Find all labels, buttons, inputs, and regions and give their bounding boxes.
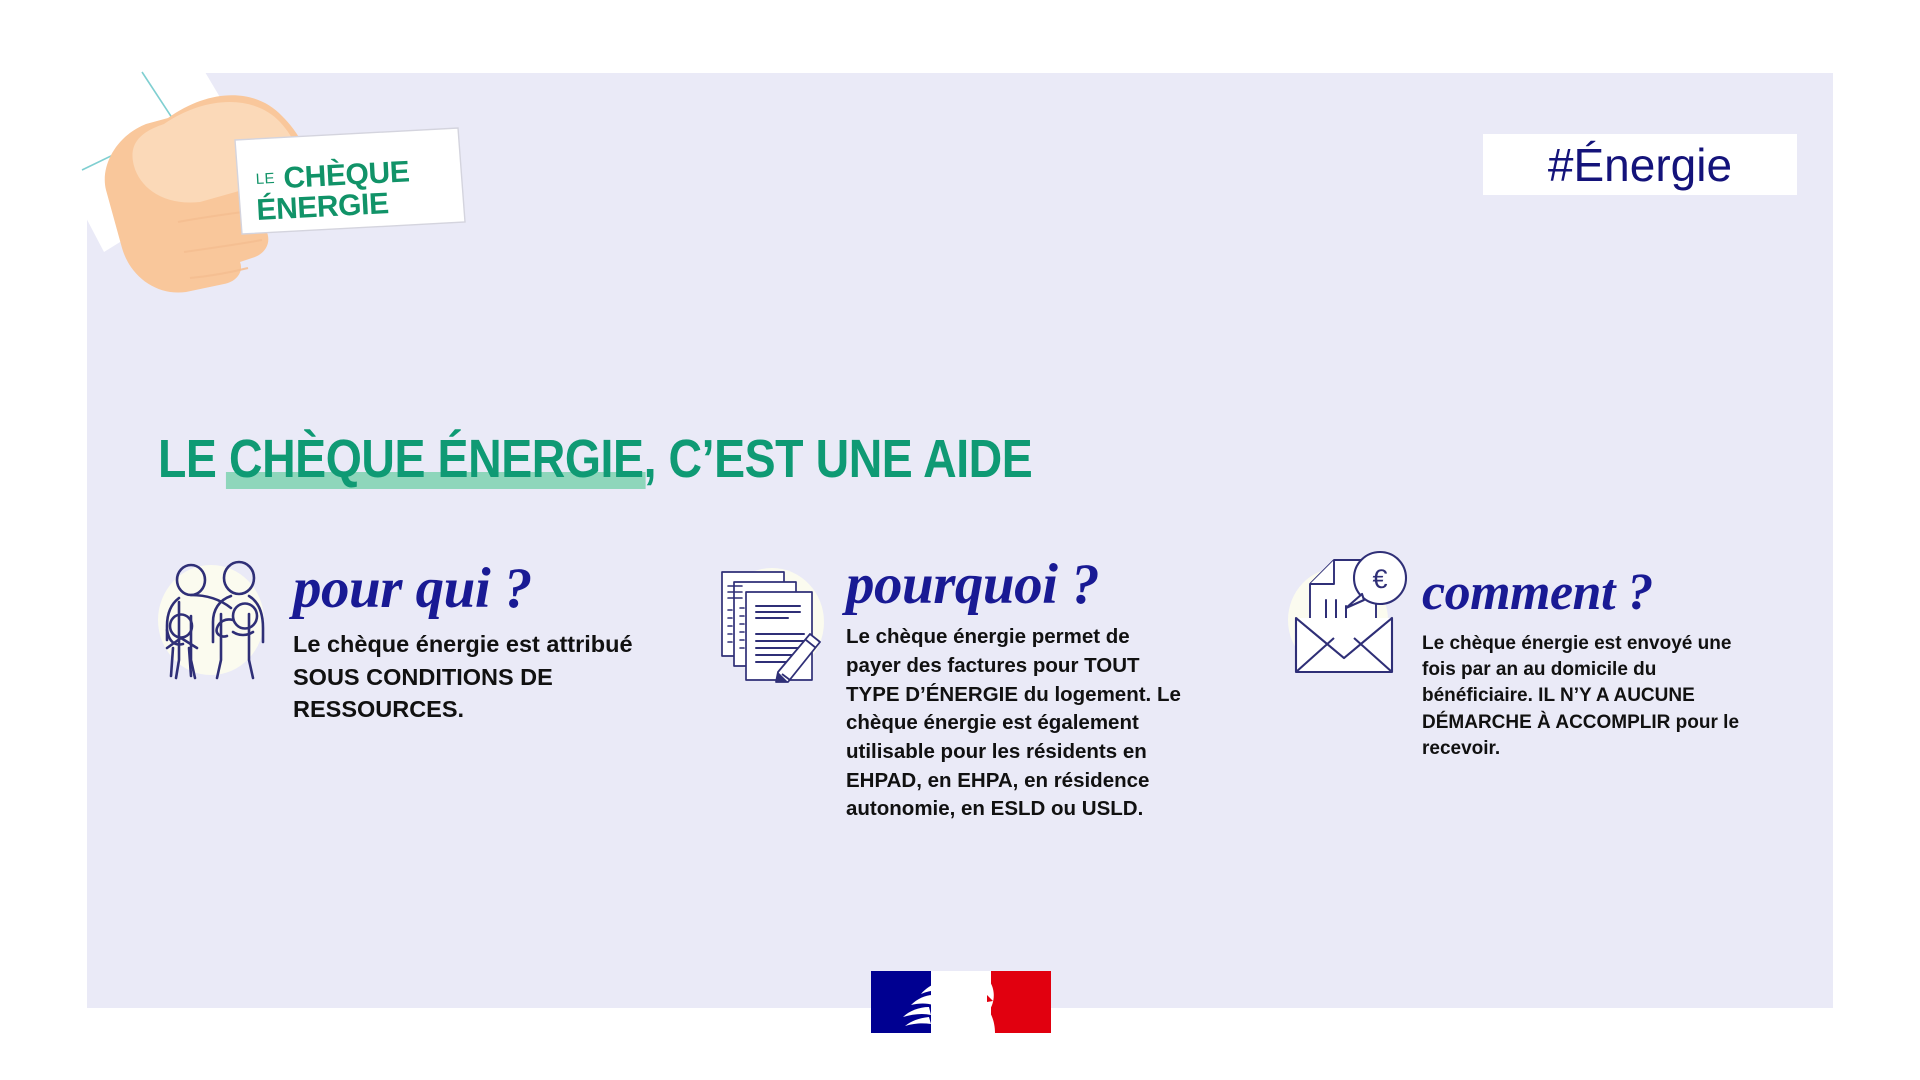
info-column-body: pourquoi ? Le chèque énergie permet de p… (846, 556, 1216, 824)
column-title-pourquoi: pourquoi ? (846, 556, 1216, 614)
cheque-energie-card: LE CHÈQUE ÉNERGIE (235, 128, 465, 234)
svg-text:LE: LE (255, 170, 275, 188)
column-title-pour-qui: pour qui ? (293, 560, 663, 618)
column-text-pour-qui: Le chèque énergie est attribué SOUS COND… (293, 628, 653, 725)
column-text-comment: Le chèque énergie est envoyé une fois pa… (1422, 631, 1752, 762)
column-title-comment: comment ? (1422, 566, 1772, 619)
hand-holding-cheque-card-illustration: LE CHÈQUE ÉNERGIE (60, 70, 560, 300)
page-title: LE CHÈQUE ÉNERGIE, C’EST UNE AIDE (158, 428, 1032, 488)
envelope-euro-icon: € (1280, 548, 1414, 680)
svg-text:€: € (1372, 564, 1387, 594)
info-column-body: pour qui ? Le chèque énergie est attribu… (293, 556, 663, 725)
svg-text:ÉNERGIE: ÉNERGIE (256, 186, 390, 227)
hashtag-badge: #Énergie (1483, 134, 1797, 195)
slide-root: LE CHÈQUE ÉNERGIE #Énergie LE CHÈQUE ÉNE… (0, 0, 1920, 1080)
info-column-body: comment ? Le chèque énergie est envoyé u… (1422, 556, 1772, 762)
headline-before: LE (158, 429, 229, 489)
column-text-pourquoi: Le chèque énergie permet de payer des fa… (846, 623, 1186, 824)
family-icon (145, 556, 275, 686)
documents-pen-icon (710, 556, 836, 688)
headline-after: , C’EST UNE AIDE (644, 429, 1033, 489)
french-flag-marianne-logo (871, 971, 1051, 1033)
headline-highlight: CHÈQUE ÉNERGIE (229, 428, 644, 490)
hashtag-label: #Énergie (1548, 142, 1732, 188)
